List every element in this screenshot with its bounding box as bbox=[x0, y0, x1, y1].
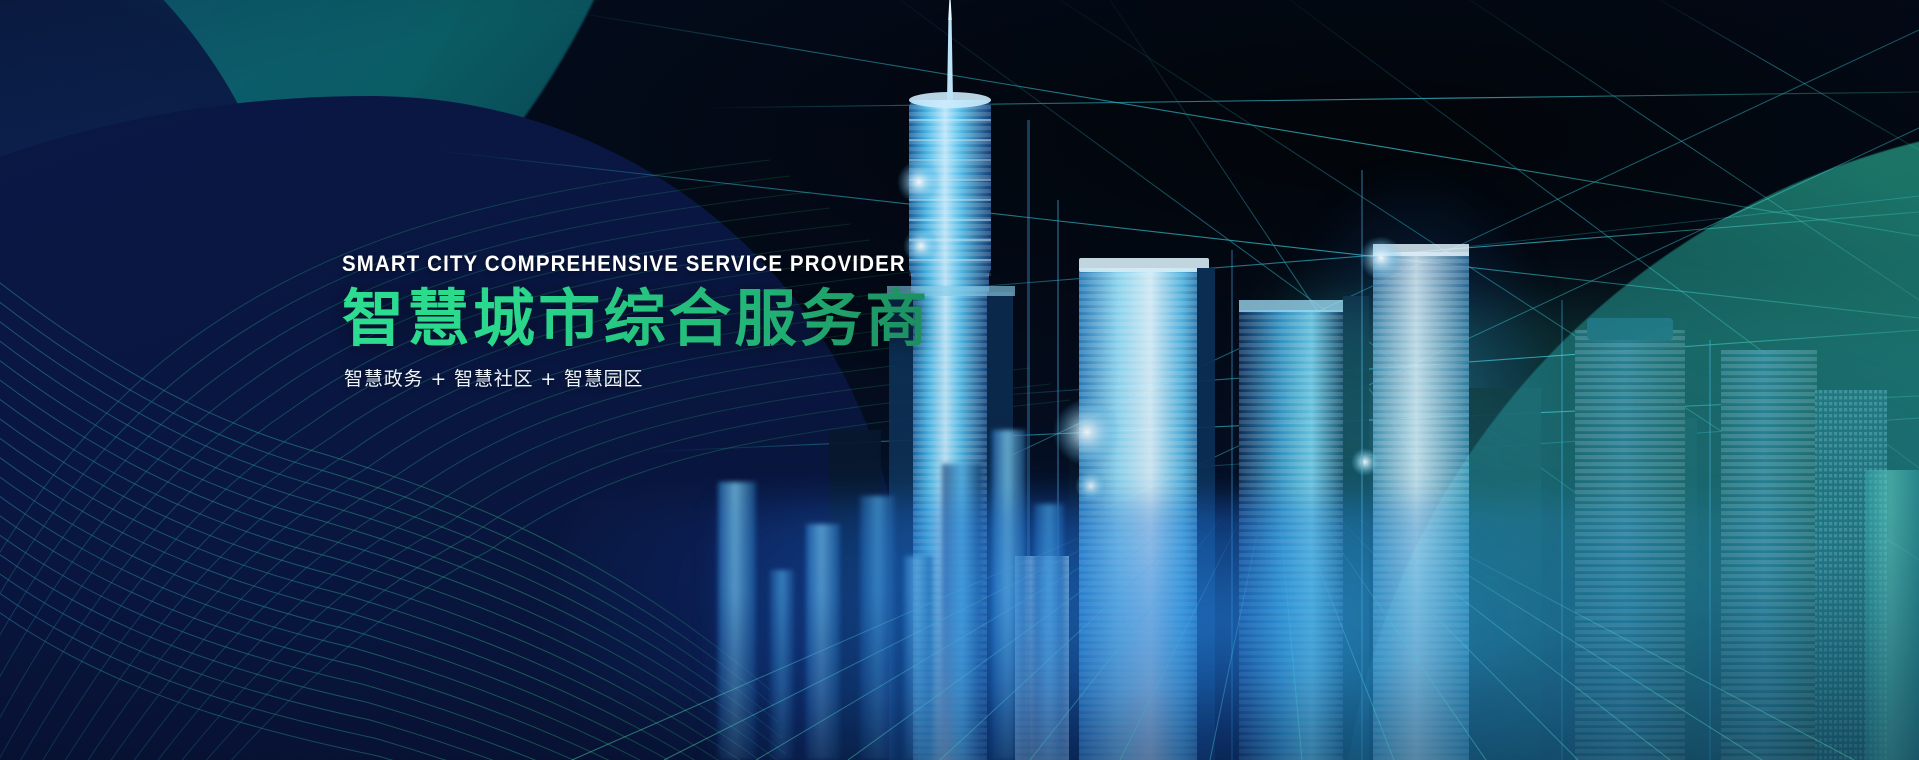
smart-city-hero-banner: SMART CITY COMPREHENSIVE SERVICE PROVIDE… bbox=[0, 0, 1919, 760]
hero-subline: 智慧政务 + 智慧社区 + 智慧园区 bbox=[344, 364, 1102, 391]
hero-copy-block: SMART CITY COMPREHENSIVE SERVICE PROVIDE… bbox=[342, 252, 1102, 391]
hero-eyebrow: SMART CITY COMPREHENSIVE SERVICE PROVIDE… bbox=[342, 252, 1049, 276]
hero-headline: 智慧城市综合服务商 bbox=[342, 286, 1102, 352]
